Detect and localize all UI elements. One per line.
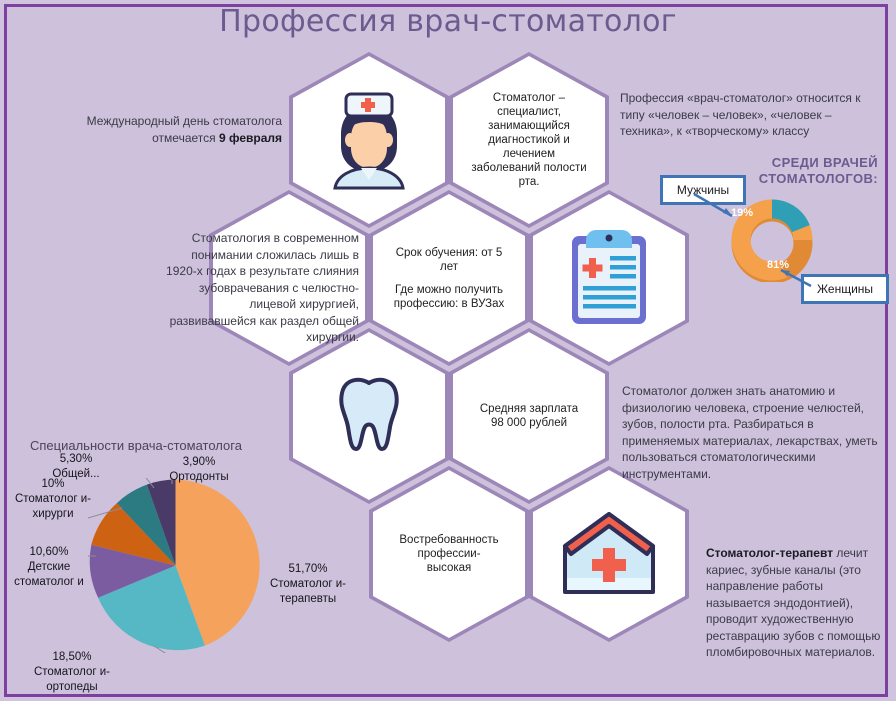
therapist-note: Стоматолог-терапевт лечит кариес, зубные… xyxy=(706,545,884,661)
dentist-day-line1: Международный день стоматолога xyxy=(87,114,282,128)
salary-caption: Средняя зарплата xyxy=(467,402,591,416)
pie-value-therapists: 51,70% xyxy=(288,563,327,575)
pie-value-general: 5,30% xyxy=(60,453,93,465)
pie-label-pediatric: 10,60% Детские стоматолог и xyxy=(6,545,92,590)
tooth-icon xyxy=(335,375,403,457)
therapist-desc: лечит кариес, зубные каналы (это направл… xyxy=(706,546,880,659)
hex-definition-text: Стоматолог – специалист, занимающийся ди… xyxy=(453,91,605,189)
pie-chart-title: Специальности врача-стоматолога xyxy=(30,438,242,453)
clinic-building-icon xyxy=(561,508,657,600)
history-note: Стоматология в современном понимании сло… xyxy=(165,230,359,346)
study-where: Где можно получить профессию: в ВУЗах xyxy=(387,283,511,311)
pie-category-therapists: Стоматолог и-терапевты xyxy=(270,578,346,605)
pie-label-orthopedists: 18,50% Стоматолог и-ортопеды xyxy=(20,650,124,695)
therapist-term: Стоматолог-терапевт xyxy=(706,546,833,560)
pie-label-surgeons: 10% Стоматолог и-хирурги xyxy=(12,477,94,522)
page-title: Профессия врач-стоматолог xyxy=(0,4,896,39)
study-duration: Срок обучения: от 5 лет xyxy=(387,246,511,274)
pie-category-pediatric: Детские стоматолог и xyxy=(14,561,84,588)
must-know-note: Стоматолог должен знать анатомию и физио… xyxy=(622,383,878,482)
dentist-day-note: Международный день стоматолога отмечаетс… xyxy=(42,113,282,146)
dentist-day-line2-plain: отмечается xyxy=(152,131,219,145)
specialties-pie-chart xyxy=(88,478,263,653)
pie-label-therapists: 51,70% Стоматолог и-терапевты xyxy=(268,562,348,607)
demand-line-3: высокая xyxy=(387,561,511,575)
dentist-avatar-icon xyxy=(319,84,419,196)
demand-line-1: Востребованность xyxy=(387,533,511,547)
pie-value-surgeons: 10% xyxy=(41,478,64,490)
pie-category-orthopedists: Стоматолог и-ортопеды xyxy=(34,666,110,693)
pie-value-pediatric: 10,60% xyxy=(29,546,68,558)
dentist-day-date: 9 февраля xyxy=(219,131,282,145)
hex-salary-text: Средняя зарплата 98 000 рублей xyxy=(453,402,605,430)
pie-category-surgeons: Стоматолог и-хирурги xyxy=(15,493,91,520)
pie-value-orthodontists: 3,90% xyxy=(183,456,216,468)
callout-women-arrow xyxy=(775,262,815,292)
profession-type-note: Профессия «врач-стоматолог» относится к … xyxy=(620,90,878,140)
salary-value: 98 000 рублей xyxy=(467,416,591,430)
pie-label-orthodontists: 3,90% Ортодонты xyxy=(154,455,244,485)
pie-category-orthodontists: Ортодонты xyxy=(169,471,228,483)
hex-demand-text: Востребованность профессии- высокая xyxy=(373,533,525,575)
demand-line-2: профессии- xyxy=(387,547,511,561)
pie-value-orthopedists: 18,50% xyxy=(52,651,91,663)
hex-study-text: Срок обучения: от 5 лет Где можно получи… xyxy=(373,246,525,311)
callout-men-arrow xyxy=(690,188,750,228)
medical-clipboard-icon xyxy=(566,226,652,330)
